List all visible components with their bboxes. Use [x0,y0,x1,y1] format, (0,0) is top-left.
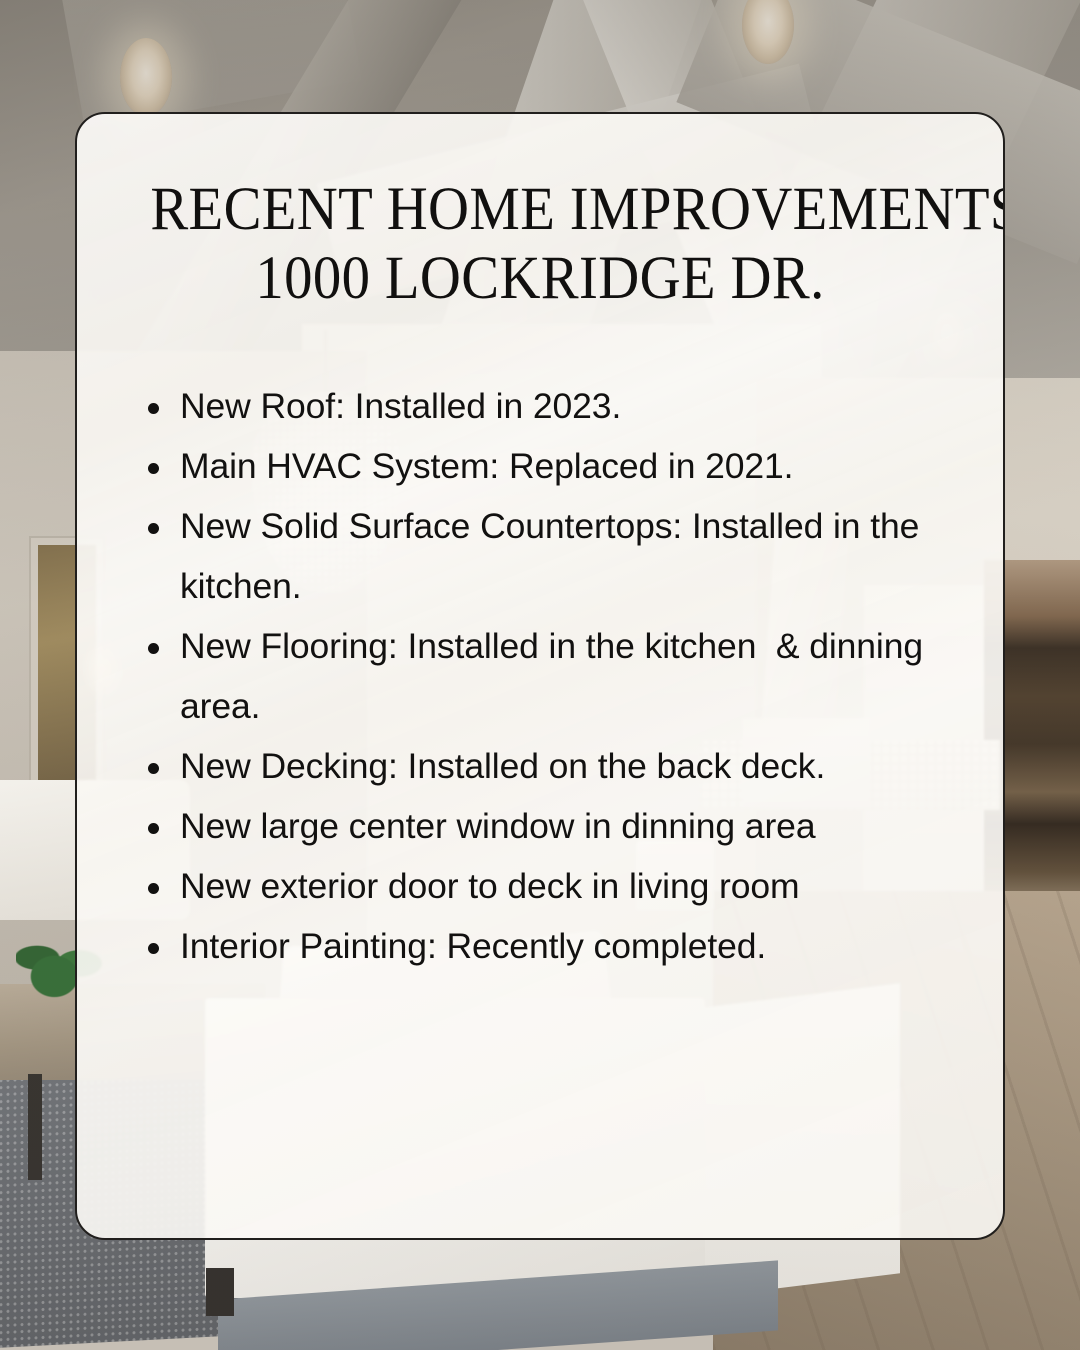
info-card: RECENT HOME IMPROVEMENTS 1000 LOCKRIDGE … [75,112,1005,1240]
recessed-can-light [120,38,172,116]
console-table-leg [28,1074,42,1180]
list-item: New Flooring: Installed in the kitchen &… [121,616,959,736]
list-item: Main HVAC System: Replaced in 2021. [121,436,959,496]
page-title: RECENT HOME IMPROVEMENTS 1000 LOCKRIDGE … [150,176,929,314]
sofa-foot [206,1268,234,1316]
list-item: New large center window in dinning area [121,796,959,856]
title-line-2: 1000 LOCKRIDGE DR. [150,245,929,314]
list-item: New Decking: Installed on the back deck. [121,736,959,796]
title-line-1: RECENT HOME IMPROVEMENTS [150,176,929,245]
list-item: New Roof: Installed in 2023. [121,376,959,436]
list-item: Interior Painting: Recently completed. [121,916,959,976]
list-item: New Solid Surface Countertops: Installed… [121,496,959,616]
list-item: New exterior door to deck in living room [121,856,959,916]
social-post-image: RECENT HOME IMPROVEMENTS 1000 LOCKRIDGE … [0,0,1080,1350]
improvements-list: New Roof: Installed in 2023. Main HVAC S… [121,376,959,976]
